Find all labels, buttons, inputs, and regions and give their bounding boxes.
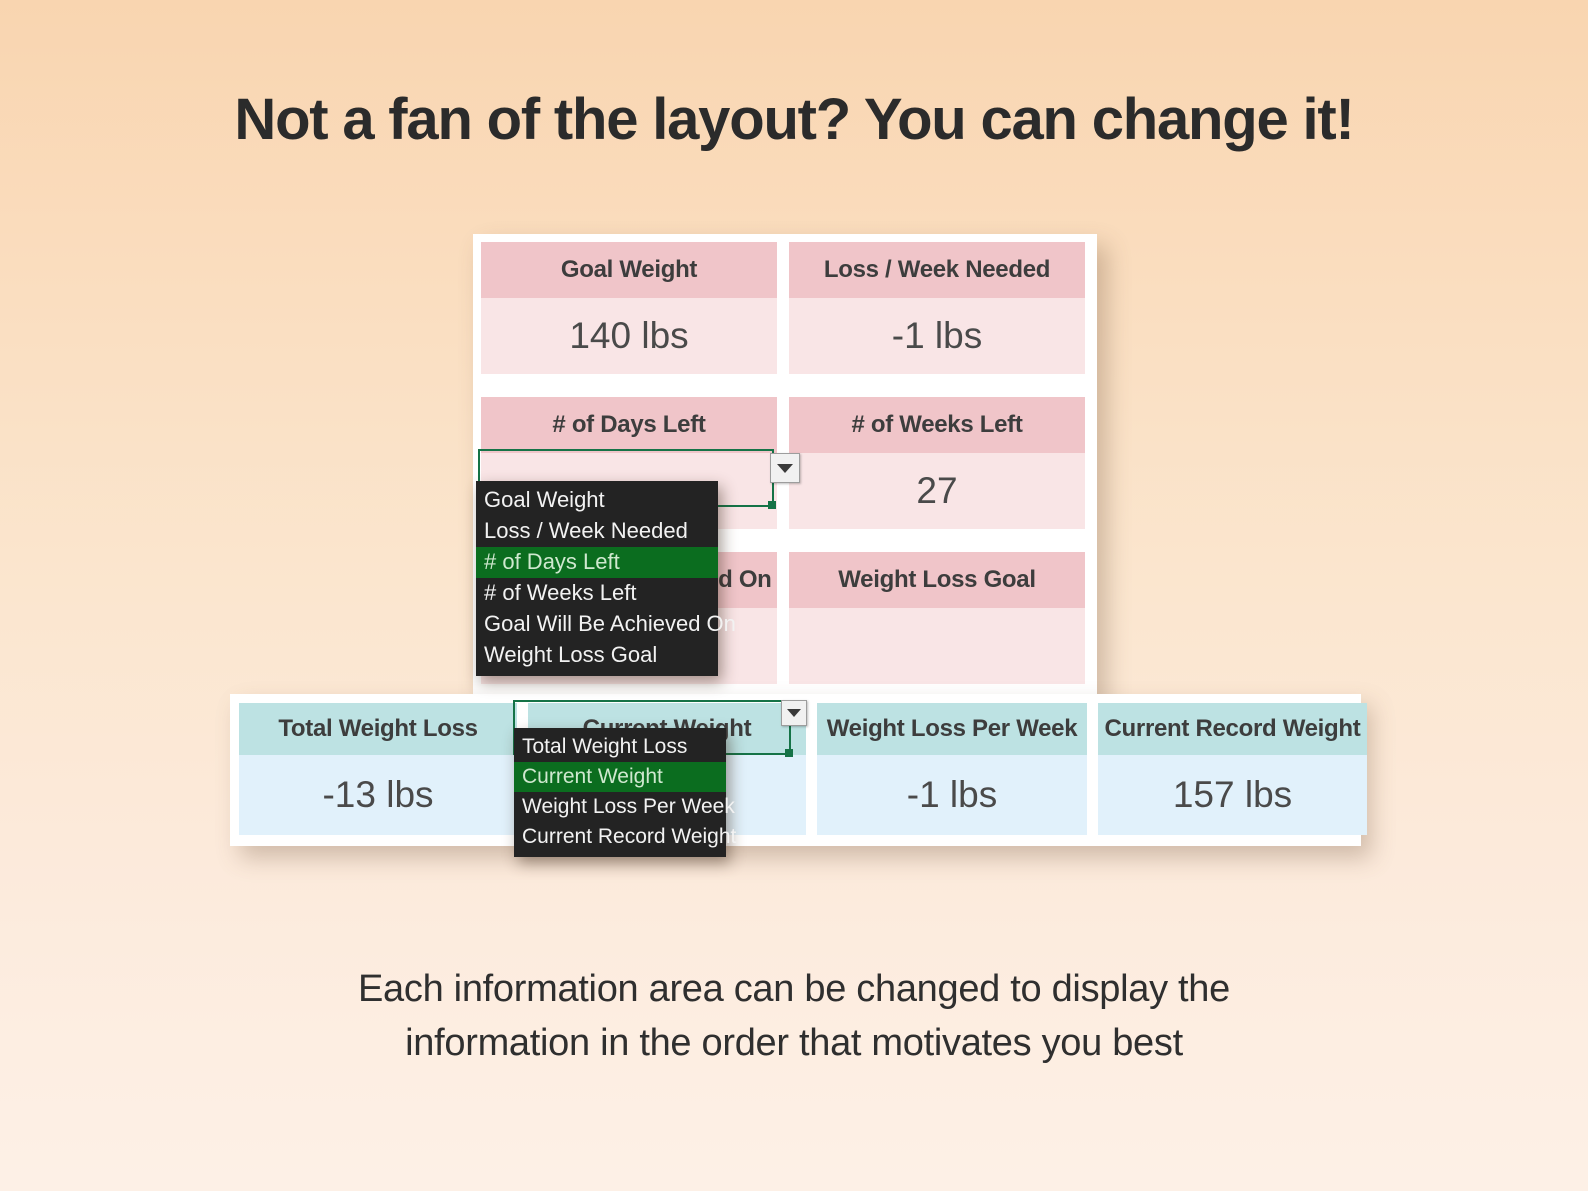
card-header: Weight Loss Per Week <box>817 703 1087 755</box>
card-value: -1 lbs <box>817 755 1087 835</box>
card-header: Weight Loss Goal <box>789 552 1085 608</box>
chevron-down-icon <box>787 709 801 717</box>
card-value: 27 <box>789 453 1085 529</box>
metric-card-weight-loss-per-week[interactable]: Weight Loss Per Week -1 lbs <box>817 703 1087 835</box>
dropdown-option[interactable]: Current Record Weight <box>514 822 726 852</box>
dropdown-option[interactable]: Total Weight Loss <box>514 732 726 762</box>
card-header: # of Weeks Left <box>789 397 1085 453</box>
dropdown-option[interactable]: Goal Weight <box>476 485 718 516</box>
page-title: Not a fan of the layout? You can change … <box>0 86 1588 153</box>
dropdown-option-selected[interactable]: # of Days Left <box>476 547 718 578</box>
dropdown-option[interactable]: # of Weeks Left <box>476 578 718 609</box>
metric-card-goal-weight[interactable]: Goal Weight 140 lbs <box>481 242 777 374</box>
dropdown-option[interactable]: Weight Loss Per Week <box>514 792 726 822</box>
dropdown-toggle-current-weight[interactable] <box>781 700 807 726</box>
card-header: Current Record Weight <box>1098 703 1367 755</box>
card-header: Loss / Week Needed <box>789 242 1085 298</box>
card-value: -13 lbs <box>239 755 517 835</box>
dropdown-menu-current-weight[interactable]: Total Weight Loss Current Weight Weight … <box>514 728 726 857</box>
dropdown-option[interactable]: Weight Loss Goal <box>476 640 718 671</box>
card-header: # of Days Left <box>481 397 777 453</box>
metric-card-weeks-left[interactable]: # of Weeks Left 27 <box>789 397 1085 529</box>
caption-text: Each information area can be changed to … <box>294 962 1294 1070</box>
card-value: 157 lbs <box>1098 755 1367 835</box>
metric-card-total-weight-loss[interactable]: Total Weight Loss -13 lbs <box>239 703 517 835</box>
metric-card-current-record-weight[interactable]: Current Record Weight 157 lbs <box>1098 703 1367 835</box>
card-header: Goal Weight <box>481 242 777 298</box>
metric-card-weight-loss-goal[interactable]: Weight Loss Goal <box>789 552 1085 684</box>
card-value: 140 lbs <box>481 298 777 374</box>
dropdown-toggle-days-left[interactable] <box>770 453 800 483</box>
dropdown-option-selected[interactable]: Current Weight <box>514 762 726 792</box>
dropdown-option[interactable]: Loss / Week Needed <box>476 516 718 547</box>
card-value <box>789 608 1085 684</box>
card-value: -1 lbs <box>789 298 1085 374</box>
chevron-down-icon <box>777 464 793 473</box>
dropdown-menu-days-left[interactable]: Goal Weight Loss / Week Needed # of Days… <box>476 481 718 676</box>
metric-card-loss-week-needed[interactable]: Loss / Week Needed -1 lbs <box>789 242 1085 374</box>
dropdown-option[interactable]: Goal Will Be Achieved On <box>476 609 718 640</box>
card-header: Total Weight Loss <box>239 703 517 755</box>
